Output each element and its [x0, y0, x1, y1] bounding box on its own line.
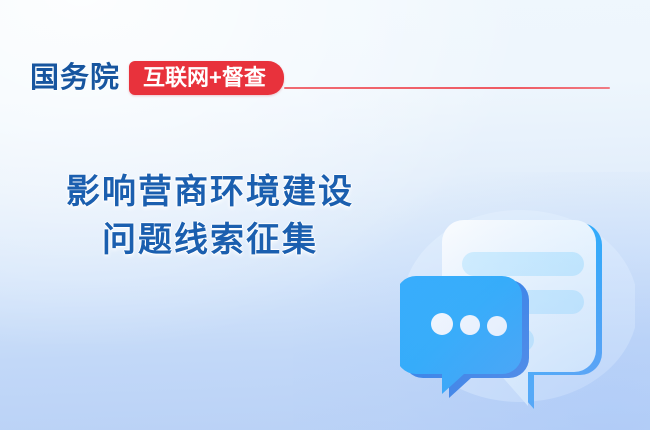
- banner-header: 国务院 互联网+督查: [30, 58, 610, 98]
- title-line-2: 问题线索征集: [0, 216, 420, 264]
- internet-supervision-badge: 互联网+督查: [129, 61, 284, 95]
- banner-root: 国务院 互联网+督查 影响营商环境建设 问题线索征集: [0, 0, 650, 430]
- typing-dots: [431, 313, 507, 336]
- badge-label: 互联网+督查: [143, 67, 266, 88]
- title-line-1: 影响营商环境建设: [0, 168, 420, 216]
- header-divider-rule: [284, 87, 610, 89]
- gov-council-label: 国务院: [30, 64, 120, 93]
- page-title: 影响营商环境建设 问题线索征集: [0, 168, 420, 264]
- chat-bubbles-illustration: [400, 196, 635, 411]
